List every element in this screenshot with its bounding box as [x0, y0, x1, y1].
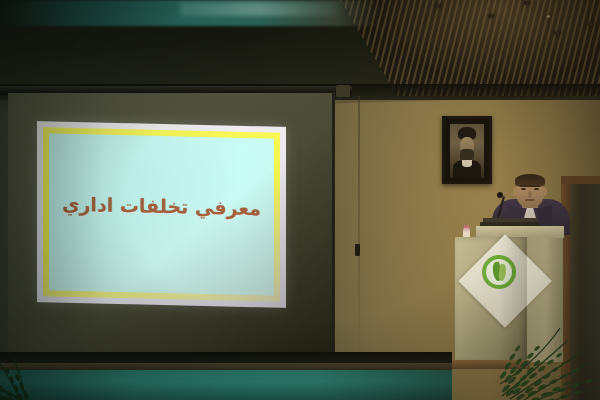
- speaker-ear-left: [513, 187, 518, 196]
- teal-light-hotspot: [180, 2, 340, 16]
- downlight-4: [546, 15, 551, 18]
- downlight-3: [554, 31, 561, 35]
- door-header: [561, 176, 600, 184]
- slide-body: معرفي تخلفات اداري: [49, 133, 274, 295]
- leaf-circle-logo: [482, 255, 516, 289]
- slide-heading: معرفي تخلفات اداري: [62, 193, 261, 220]
- slide-yellow-border: معرفي تخلفات اداري: [43, 127, 280, 302]
- wall-seam: [358, 96, 360, 376]
- downlight-5: [588, 22, 594, 26]
- downlight-1: [488, 14, 494, 18]
- speaker-ear-right: [542, 187, 547, 196]
- portrait-image: [450, 124, 484, 178]
- downlight-2: [524, 1, 530, 5]
- speaker-eye-left: [521, 188, 526, 190]
- speaker-eye-right: [534, 188, 539, 190]
- podium-base: [452, 360, 530, 369]
- stage-floor-shading: [0, 370, 452, 400]
- speaker-nose: [528, 191, 532, 198]
- auditorium-photo: معرفي تخلفات اداري: [0, 0, 600, 400]
- wall-socket: [355, 244, 360, 256]
- microphone-icon: [497, 192, 503, 198]
- portrait-collar: [462, 160, 472, 168]
- framed-portrait: [442, 116, 492, 184]
- speaker-mouth: [525, 199, 535, 201]
- speaker-brows: [520, 185, 540, 187]
- projected-slide: معرفي تخلفات اداري: [37, 121, 286, 308]
- roller-end-cap: [336, 85, 350, 97]
- side-door: [570, 176, 600, 400]
- downlight-0: [434, 4, 441, 8]
